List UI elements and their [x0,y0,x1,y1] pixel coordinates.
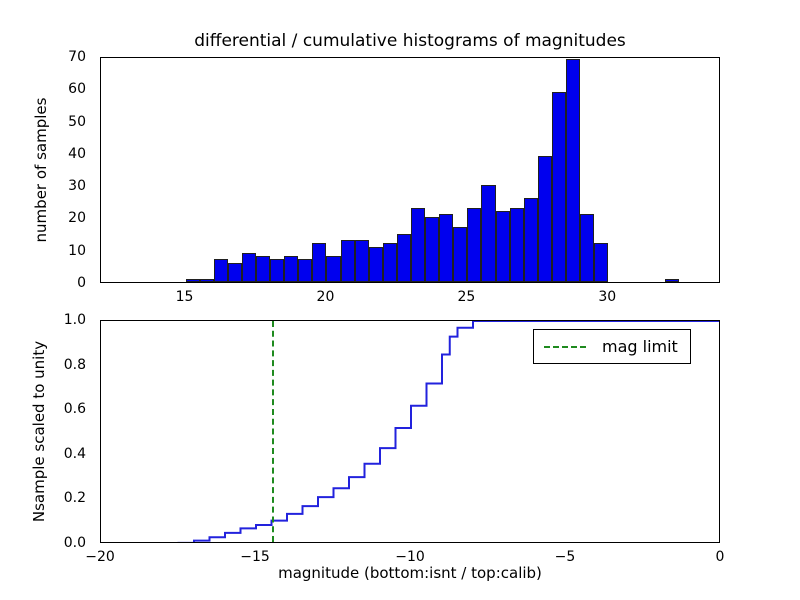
histogram-bars-layer [101,58,719,282]
page-title: differential / cumulative histograms of … [100,31,720,51]
top-xtick-label: 30 [598,289,616,305]
histogram-bar [496,211,510,282]
bottom-ytick-label: 1.0 [64,312,86,328]
histogram-bar [594,243,608,282]
figure-canvas: differential / cumulative histograms of … [0,0,800,600]
histogram-bar [186,279,200,282]
mag-limit-legend-label: mag limit [602,337,678,356]
histogram-bar [214,259,228,282]
top-panel-ylabel: number of samples [32,57,50,283]
histogram-bar [665,279,679,282]
histogram-bar [524,198,538,282]
histogram-bar [341,240,355,282]
top-xtick-label: 15 [176,289,194,305]
bottom-ytick-label: 0.6 [64,401,86,417]
histogram-bar [439,214,453,282]
histogram-bar [538,156,552,282]
bottom-ytick-label: 0.4 [64,446,86,462]
histogram-bar [481,185,495,282]
histogram-bar [369,247,383,283]
histogram-bar [298,259,312,282]
bottom-xtick-label: −10 [395,549,425,565]
differential-histogram-axes [100,57,720,283]
top-ytick-label: 40 [68,146,86,162]
histogram-bar [270,259,284,282]
histogram-bar [411,208,425,282]
bottom-xtick-label: −20 [85,549,115,565]
bottom-xtick-label: −5 [555,549,576,565]
top-xtick-label: 20 [317,289,335,305]
histogram-bar [453,227,467,282]
top-xtick-label: 25 [457,289,475,305]
top-ytick-label: 10 [68,243,86,259]
histogram-bar [326,256,340,282]
top-ytick-label: 30 [68,178,86,194]
x-axis-label: magnitude (bottom:isnt / top:calib) [100,564,720,582]
histogram-bar [397,234,411,282]
bottom-xtick-label: 0 [716,549,725,565]
top-ytick-label: 60 [68,81,86,97]
mag-limit-vline [272,321,274,542]
histogram-bar [383,243,397,282]
top-ytick-label: 70 [68,49,86,65]
histogram-bar [566,59,580,282]
bottom-panel-ylabel: Nsample scaled to unity [30,320,48,543]
histogram-bar [510,208,524,282]
top-ytick-label: 50 [68,114,86,130]
mag-limit-legend-swatch [544,346,586,348]
legend-box: mag limit [533,329,691,364]
histogram-bar [256,256,270,282]
bottom-ytick-label: 0.8 [64,357,86,373]
histogram-bar [467,208,481,282]
bottom-ytick-label: 0.0 [64,535,86,551]
histogram-bar [228,263,242,282]
bottom-ytick-label: 0.2 [64,490,86,506]
histogram-bar [425,217,439,282]
histogram-bar [242,253,256,282]
histogram-bar [580,214,594,282]
bottom-xtick-label: −15 [240,549,270,565]
top-ytick-label: 20 [68,210,86,226]
top-ytick-label: 0 [77,275,86,291]
histogram-bar [552,92,566,282]
histogram-bar [284,256,298,282]
histogram-bar [200,279,214,282]
histogram-bar [312,243,326,282]
histogram-bar [355,240,369,282]
